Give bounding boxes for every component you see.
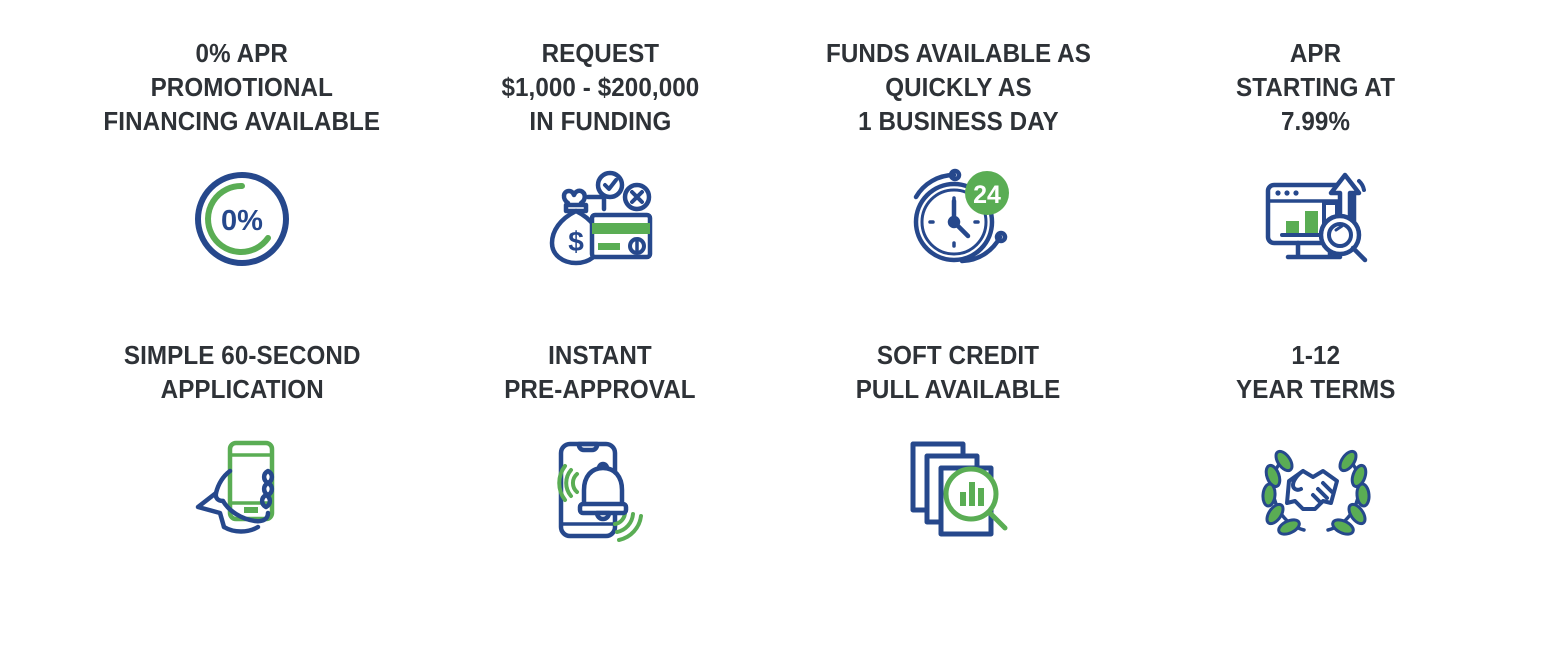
benefit-heading: APR STARTING AT 7.99% [1236, 36, 1395, 138]
benefit-heading-line: INSTANT [504, 338, 695, 372]
zero-percent-label: 0% [221, 205, 263, 237]
benefit-card-soft-credit-pull: SOFT CREDIT PULL AVAILABLE [779, 338, 1137, 646]
benefit-card-funds-available: FUNDS AVAILABLE AS QUICKLY AS 1 BUSINESS… [779, 36, 1137, 338]
benefit-heading-line: FINANCING AVAILABLE [104, 104, 381, 138]
hand-holding-phone-icon [190, 434, 294, 544]
benefit-heading: FUNDS AVAILABLE AS QUICKLY AS 1 BUSINESS… [826, 36, 1091, 138]
benefit-heading-line: REQUEST [501, 36, 699, 70]
money-bag-credit-card-icon: $ [544, 164, 656, 274]
benefit-heading: INSTANT PRE-APPROVAL [504, 338, 695, 406]
benefit-heading-line: 1 BUSINESS DAY [826, 104, 1091, 138]
benefit-heading-line: YEAR TERMS [1236, 372, 1395, 406]
benefit-heading-line: PULL AVAILABLE [856, 372, 1061, 406]
benefit-heading: 1-12 YEAR TERMS [1236, 338, 1395, 406]
benefit-heading: 0% APR PROMOTIONAL FINANCING AVAILABLE [104, 36, 381, 138]
dollar-sign-label: $ [568, 226, 584, 257]
benefit-heading-line: SIMPLE 60-SECOND [124, 338, 361, 372]
clock-24-hour-icon: 24 [904, 164, 1012, 274]
benefit-heading-line: FUNDS AVAILABLE AS [826, 36, 1091, 70]
benefit-card-zero-apr: 0% APR PROMOTIONAL FINANCING AVAILABLE 0… [63, 36, 421, 338]
twentyfour-badge-label: 24 [973, 181, 1001, 209]
benefit-heading-line: $1,000 - $200,000 [501, 70, 699, 104]
benefit-heading-line: QUICKLY AS [826, 70, 1091, 104]
benefit-heading-line: 7.99% [1236, 104, 1395, 138]
benefit-card-instant-pre-approval: INSTANT PRE-APPROVAL [421, 338, 779, 646]
zero-percent-circle-icon: 0% [190, 164, 294, 274]
benefit-heading-line: IN FUNDING [501, 104, 699, 138]
benefits-grid: 0% APR PROMOTIONAL FINANCING AVAILABLE 0… [63, 0, 1495, 646]
benefit-heading: SOFT CREDIT PULL AVAILABLE [856, 338, 1061, 406]
benefit-heading-line: STARTING AT [1236, 70, 1395, 104]
documents-magnifier-chart-icon [905, 434, 1011, 544]
benefit-card-request-funding: REQUEST $1,000 - $200,000 IN FUNDING $ [421, 36, 779, 338]
handshake-laurel-wreath-icon [1256, 434, 1376, 544]
benefit-heading-line: 0% APR [104, 36, 381, 70]
benefit-heading: SIMPLE 60-SECOND APPLICATION [124, 338, 361, 406]
benefit-heading-line: 1-12 [1236, 338, 1395, 372]
phone-notification-bell-icon [547, 434, 653, 544]
benefit-heading-line: PROMOTIONAL [104, 70, 381, 104]
benefit-card-year-terms: 1-12 YEAR TERMS [1137, 338, 1495, 646]
benefit-heading-line: PRE-APPROVAL [504, 372, 695, 406]
benefit-card-apr-rate: APR STARTING AT 7.99% [1137, 36, 1495, 338]
benefit-card-simple-application: SIMPLE 60-SECOND APPLICATION [63, 338, 421, 646]
benefit-heading-line: SOFT CREDIT [856, 338, 1061, 372]
benefit-heading-line: APR [1236, 36, 1395, 70]
benefit-heading-line: APPLICATION [124, 372, 361, 406]
benefit-heading: REQUEST $1,000 - $200,000 IN FUNDING [501, 36, 699, 138]
monitor-growth-chart-magnifier-icon [1260, 164, 1372, 274]
